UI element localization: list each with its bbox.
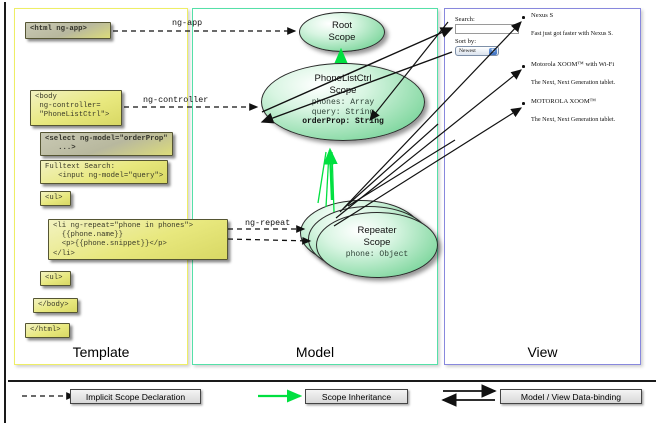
phone-name: MOTOROLA XOOM™ xyxy=(531,98,596,105)
code-box-ul-close: <ul> xyxy=(40,271,71,286)
edge-label-ng-app: ng-app xyxy=(172,18,202,28)
view-sort-label: Sort by: xyxy=(455,38,476,45)
phone-snippet: The Next, Next Generation tablet. xyxy=(531,116,615,123)
code-box-select-tag: <select ng-model="orderProp" ...> xyxy=(40,132,173,156)
panel-model: Model xyxy=(192,8,438,365)
phone-snippet: The Next, Next Generation tablet. xyxy=(531,79,615,86)
scope-phonelistctrl-title-line2: Scope xyxy=(262,85,424,97)
legend-label-model-view-data-binding: Model / View Data-binding xyxy=(500,389,642,404)
code-box-search-input: Fulltext Search: <input ng-model="query"… xyxy=(40,160,168,184)
code-box-body-close: </body> xyxy=(33,298,78,313)
panel-label-view: View xyxy=(445,344,640,360)
left-frame-rule xyxy=(4,2,6,423)
code-box-html-close: </html> xyxy=(25,323,70,338)
scope-repeater-title-line2: Scope xyxy=(317,237,437,249)
code-box-body-open: <body ng-controller= "PhoneListCtrl"> xyxy=(30,90,122,126)
legend-label-scope-inheritance: Scope Inheritance xyxy=(305,389,408,404)
list-bullet xyxy=(522,102,525,105)
code-box-li-repeat: <li ng-repeat="phone in phones"> {{phone… xyxy=(48,219,228,260)
scope-repeater: Repeater Scope phone: Object xyxy=(316,212,438,278)
panel-label-template: Template xyxy=(15,344,187,360)
panel-label-model: Model xyxy=(193,344,437,360)
chevron-updown-icon: ⇅ xyxy=(489,48,497,55)
view-search-label: Search: xyxy=(455,16,475,23)
code-box-ul-open: <ul> xyxy=(40,191,71,206)
code-box-html-open: <html ng-app> xyxy=(25,22,111,39)
scope-prop-phone: phone: Object xyxy=(317,250,437,260)
scope-root-title-line2: Scope xyxy=(300,32,384,44)
view-search-input[interactable] xyxy=(455,24,519,34)
phone-name: Nexus S xyxy=(531,12,553,19)
scope-phonelistctrl: PhoneListCtrl Scope phones: Array query:… xyxy=(261,63,425,141)
list-bullet xyxy=(522,65,525,68)
view-sort-select[interactable]: Newest ⇅ xyxy=(455,46,499,56)
scope-prop-orderprop: orderProp: String xyxy=(262,117,424,127)
legend-divider xyxy=(8,380,656,382)
view-sort-selected-value: Newest xyxy=(459,48,476,54)
legend-arrow-model-view-data-binding xyxy=(443,391,495,400)
scope-prop-phones: phones: Array xyxy=(262,98,424,108)
phone-name: Motorola XOOM™ with Wi-Fi xyxy=(531,61,614,68)
scope-phonelistctrl-title-line1: PhoneListCtrl xyxy=(262,73,424,85)
scope-root: Root Scope xyxy=(299,12,385,52)
scope-root-title-line1: Root xyxy=(300,20,384,32)
edge-label-ng-controller: ng-controller xyxy=(143,95,208,105)
legend-label-implicit-scope-declaration: Implicit Scope Declaration xyxy=(70,389,201,404)
list-bullet xyxy=(522,16,525,19)
scope-repeater-title-line1: Repeater xyxy=(317,225,437,237)
diagram-canvas: Template Model View <html ng-app> <body … xyxy=(0,0,661,425)
phone-snippet: Fast just got faster with Nexus S. xyxy=(531,30,613,37)
scope-prop-query: query: String xyxy=(262,108,424,118)
edge-label-ng-repeat: ng-repeat xyxy=(245,218,290,228)
